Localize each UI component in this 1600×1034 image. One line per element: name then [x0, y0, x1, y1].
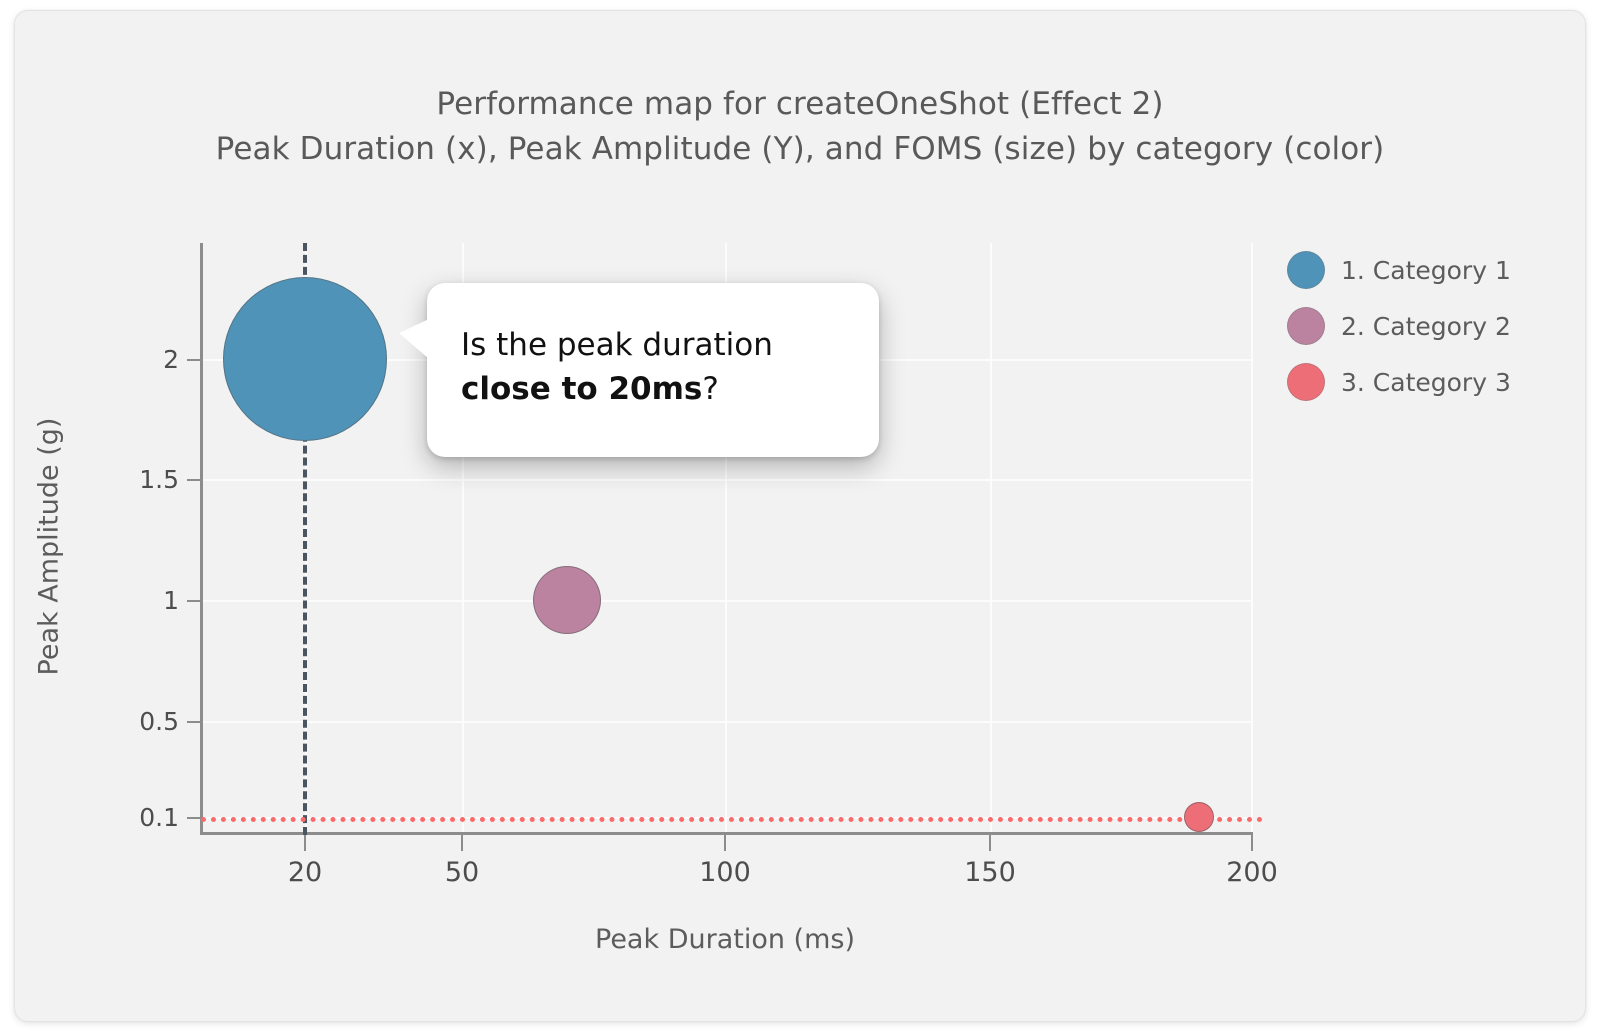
- gridline-x-200: [1251, 243, 1253, 835]
- chart-figure-card: Performance map for createOneShot (Effec…: [14, 10, 1586, 1022]
- y-tick-label-2: 2: [75, 345, 179, 374]
- legend-swatch-icon-category-1: [1287, 251, 1325, 289]
- x-tick-mark-150: [989, 835, 991, 851]
- legend-item-category-3[interactable]: 3. Category 3: [1287, 363, 1511, 401]
- x-tick-mark-100: [724, 835, 726, 851]
- screenshot-root: Performance map for createOneShot (Effec…: [0, 0, 1600, 1034]
- x-tick-label-20: 20: [288, 857, 322, 888]
- chart-subtitle: Peak Duration (x), Peak Amplitude (Y), a…: [15, 130, 1585, 169]
- x-tick-label-150: 150: [964, 857, 1016, 888]
- chart-title-block: Performance map for createOneShot (Effec…: [15, 85, 1585, 169]
- chart-title: Performance map for createOneShot (Effec…: [15, 85, 1585, 124]
- legend: 1. Category 1 2. Category 2 3. Category …: [1287, 251, 1511, 401]
- y-tick-mark-1_5: [187, 479, 201, 481]
- x-tick-mark-20: [304, 835, 306, 851]
- callout-tail-icon: [399, 319, 429, 359]
- annotation-callout: Is the peak duration close to 20ms?: [427, 283, 879, 457]
- gridline-y-0_5: [201, 721, 1253, 723]
- gridline-y-1: [201, 600, 1253, 602]
- reference-line-horizontal-0.1g: [201, 817, 1263, 822]
- legend-item-category-1[interactable]: 1. Category 1: [1287, 251, 1511, 289]
- x-axis-spine: [200, 832, 1253, 835]
- y-tick-mark-0_1: [187, 817, 201, 819]
- x-tick-mark-200: [1251, 835, 1253, 851]
- y-tick-label-0_5: 0.5: [75, 707, 179, 736]
- y-tick-label-1_5: 1.5: [75, 465, 179, 494]
- data-point-category-3[interactable]: [1184, 802, 1214, 832]
- x-tick-mark-50: [461, 835, 463, 851]
- legend-label-category-2: 2. Category 2: [1341, 312, 1511, 341]
- legend-label-category-1: 1. Category 1: [1341, 256, 1511, 285]
- legend-item-category-2[interactable]: 2. Category 2: [1287, 307, 1511, 345]
- callout-text-line1: Is the peak duration: [461, 327, 773, 363]
- y-axis-title: Peak Amplitude (g): [34, 307, 65, 787]
- x-tick-label-200: 200: [1226, 857, 1278, 888]
- x-tick-label-50: 50: [445, 857, 479, 888]
- legend-swatch-icon-category-2: [1287, 307, 1325, 345]
- legend-label-category-3: 3. Category 3: [1341, 368, 1511, 397]
- y-axis-spine: [200, 243, 203, 835]
- y-tick-label-0_1: 0.1: [75, 803, 179, 832]
- gridline-x-150: [990, 243, 992, 835]
- y-tick-label-1: 1: [75, 586, 179, 615]
- callout-text-bold: close to 20ms: [461, 371, 702, 407]
- y-tick-mark-1: [187, 600, 201, 602]
- data-point-category-1[interactable]: [223, 277, 387, 441]
- x-tick-label-100: 100: [699, 857, 751, 888]
- callout-text: Is the peak duration close to 20ms?: [461, 323, 845, 411]
- x-axis-title: Peak Duration (ms): [15, 924, 1435, 955]
- y-tick-mark-2: [187, 359, 201, 361]
- callout-text-tail: ?: [702, 371, 718, 407]
- legend-swatch-icon-category-3: [1287, 363, 1325, 401]
- gridline-y-1_5: [201, 479, 1253, 481]
- y-tick-mark-0_5: [187, 721, 201, 723]
- data-point-category-2[interactable]: [533, 566, 601, 634]
